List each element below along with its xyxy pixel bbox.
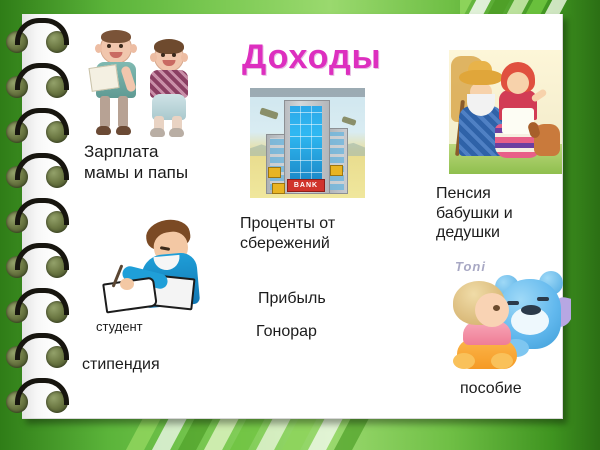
mother-eye-right (172, 53, 176, 57)
spiral-wire (15, 288, 69, 315)
spiral-wire (15, 378, 69, 405)
spiral-ring (6, 18, 70, 52)
teddy-eye-left (507, 301, 519, 305)
bank-glass-facade (290, 106, 322, 184)
mother-shoe-right (169, 128, 184, 137)
caption-pension: Пенсия бабушки и дедушки (436, 184, 513, 243)
mother-hair (154, 39, 184, 54)
slide-canvas: Доходы (0, 0, 600, 450)
father-leg-right (118, 96, 128, 128)
baby-eye (493, 305, 500, 311)
father-shoe-right (116, 126, 131, 135)
teddy-nose (521, 305, 541, 315)
father-figure (88, 30, 144, 138)
notebook-page: Доходы (22, 14, 563, 419)
spiral-wire (15, 63, 69, 90)
page-title: Доходы (242, 38, 382, 77)
decorative-stripe (266, 416, 327, 450)
spiral-wire (15, 18, 69, 45)
baby-with-teddy-bear-image: Toni (445, 257, 571, 377)
mother-shoe-left (150, 128, 165, 137)
mother-ear-left (150, 53, 157, 62)
bank-small-sign-left (268, 167, 281, 178)
baby-foot-left (453, 353, 475, 369)
image-watermark: Toni (455, 259, 486, 274)
father-ear-right (130, 44, 137, 53)
grandparents-with-dog-image (449, 50, 562, 174)
spiral-wire (15, 243, 69, 270)
father-leg-left (100, 96, 110, 128)
student-writing-image (102, 214, 212, 316)
spiral-ring (6, 378, 70, 412)
spiral-wire (15, 333, 69, 360)
decorative-stripe (240, 416, 301, 450)
bank-sign: BANK (287, 179, 325, 192)
spiral-wire (15, 153, 69, 180)
spiral-ring (6, 153, 70, 187)
decorative-stripe (162, 416, 223, 450)
caption-stipend: стипендия (82, 355, 160, 375)
spiral-ring (6, 63, 70, 97)
grandmother-face (507, 72, 529, 94)
caption-salary: Зарплата мамы и папы (84, 142, 188, 183)
student-hand (120, 278, 134, 290)
teddy-eye-right (537, 297, 549, 301)
caption-fee: Гонорар (256, 322, 317, 342)
spiral-ring (6, 288, 70, 322)
decorative-stripe (318, 416, 379, 450)
spiral-wire (15, 198, 69, 225)
spiral-ring (6, 108, 70, 142)
dog-figure (534, 124, 560, 156)
decorative-stripe (188, 416, 249, 450)
mother-ear-right (181, 53, 188, 62)
father-shoe-left (96, 126, 111, 135)
caption-student: студент (96, 319, 143, 335)
father-eye-left (107, 44, 111, 48)
bank-image-topband (250, 88, 365, 97)
decorative-stripe (214, 416, 275, 450)
father-eye-right (119, 44, 123, 48)
mother-figure (142, 40, 196, 138)
grandmother-arm (530, 88, 547, 103)
baby-foot-right (491, 353, 513, 369)
spiral-ring (6, 333, 70, 367)
caption-benefit: пособие (460, 379, 522, 399)
bank-small-sign-right (330, 165, 343, 176)
bank-building-image: BANK (250, 88, 365, 198)
baby-face (475, 293, 509, 327)
bank-small-sign-bottom (272, 183, 285, 194)
father-document (88, 64, 119, 92)
spiral-ring (6, 243, 70, 277)
spiral-ring (6, 198, 70, 232)
caption-interest-from-savings: Проценты от сбережений (240, 214, 335, 253)
decorative-stripes-bottom (0, 416, 600, 450)
bank-debris-1 (259, 107, 278, 119)
father-hair (101, 30, 131, 43)
parents-clay-figures-image (84, 28, 202, 140)
caption-profit: Прибыль (258, 289, 326, 309)
mother-eye-left (161, 53, 165, 57)
spiral-binding (0, 0, 70, 450)
father-ear-left (95, 44, 102, 53)
decorative-stripe (110, 416, 171, 450)
decorative-stripe (292, 416, 353, 450)
spiral-wire (15, 108, 69, 135)
bank-debris-2 (341, 116, 356, 126)
decorative-stripe (136, 416, 197, 450)
